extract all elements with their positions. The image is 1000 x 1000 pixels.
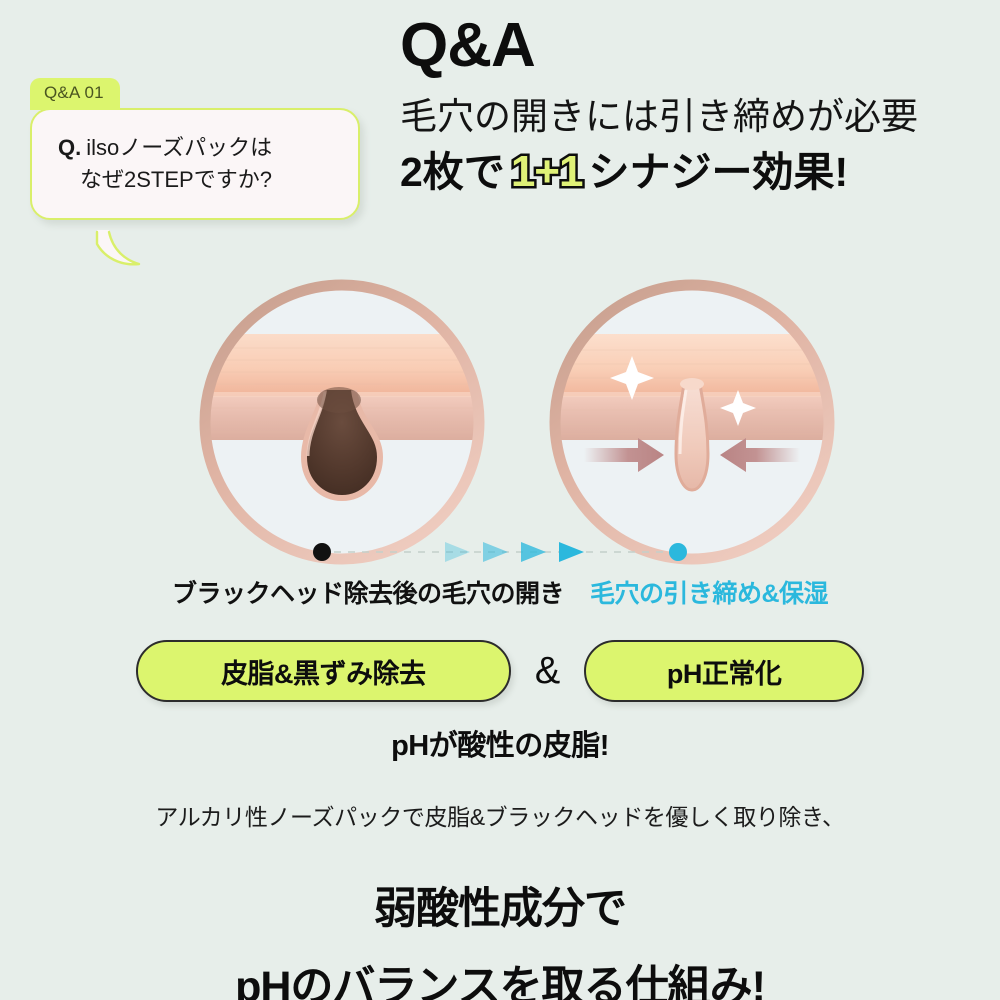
- benefit-pill-row: 皮脂&黒ずみ除去 & pH正常化: [0, 640, 1000, 702]
- bottom-heading: pHが酸性の皮脂!: [0, 722, 1000, 764]
- transition-arrow-icons: [445, 542, 584, 562]
- question-line-1: Q.ilsoノーズパックは: [58, 132, 338, 164]
- benefit-pill-ph-normalization: pH正常化: [584, 640, 864, 702]
- track-end-dot: [669, 543, 687, 561]
- question-text-line2: なぜ2STEPですか?: [80, 167, 272, 192]
- header-highlight-one-plus-one: 1+1: [511, 146, 583, 199]
- caption-right: 毛穴の引き締め&保湿: [590, 574, 828, 610]
- bottom-headline-line1: 弱酸性成分で: [0, 874, 1000, 936]
- header-main-prefix: 2枚で: [400, 148, 505, 197]
- question-text-line1: ilsoノーズパックは: [86, 135, 272, 160]
- qa-number-badge: Q&A 01: [30, 78, 120, 110]
- open-pore-diagram-icon: [192, 272, 492, 572]
- question-prefix-label: Q.: [58, 135, 81, 160]
- question-speech-bubble: Q.ilsoノーズパックは なぜ2STEPですか?: [30, 108, 360, 220]
- speech-bubble-tail-icon: [95, 230, 165, 280]
- tightened-pore-diagram-icon: [542, 272, 842, 572]
- transition-track: [0, 535, 1000, 569]
- header-main-line: 2枚で 1+1 シナジー効果!: [400, 146, 1000, 199]
- infographic-page: Q&A 01 Q.ilsoノーズパックは なぜ2STEPですか? Q&A 毛穴の…: [0, 0, 1000, 1000]
- page-title: Q&A: [400, 14, 1000, 77]
- header-subtitle: 毛穴の開きには引き締めが必要: [400, 95, 1000, 139]
- bottom-note: アルカリ性ノーズパックで皮脂&ブラックヘッドを優しく取り除き、: [0, 798, 1000, 832]
- bottom-copy-block: pHが酸性の皮脂! アルカリ性ノーズパックで皮脂&ブラックヘッドを優しく取り除き…: [0, 722, 1000, 1000]
- bottom-headline-line2: pHのバランスを取る仕組み!: [0, 952, 1000, 1000]
- illustration-open-pore: [192, 272, 492, 572]
- header-block: Q&A 毛穴の開きには引き締めが必要 2枚で 1+1 シナジー効果!: [400, 14, 1000, 198]
- caption-left: ブラックヘッド除去後の毛穴の開き: [172, 574, 564, 610]
- benefit-pill-sebum-removal: 皮脂&黒ずみ除去: [136, 640, 511, 702]
- illustration-tightened-pore: [542, 272, 842, 572]
- header-main-suffix: シナジー効果!: [588, 148, 848, 197]
- illustration-row: [0, 272, 1000, 572]
- illustration-captions: ブラックヘッド除去後の毛穴の開き 毛穴の引き締め&保湿: [0, 574, 1000, 610]
- pill-separator-ampersand: &: [531, 650, 564, 693]
- question-line-2: なぜ2STEPですか?: [58, 164, 338, 196]
- track-start-dot: [313, 543, 331, 561]
